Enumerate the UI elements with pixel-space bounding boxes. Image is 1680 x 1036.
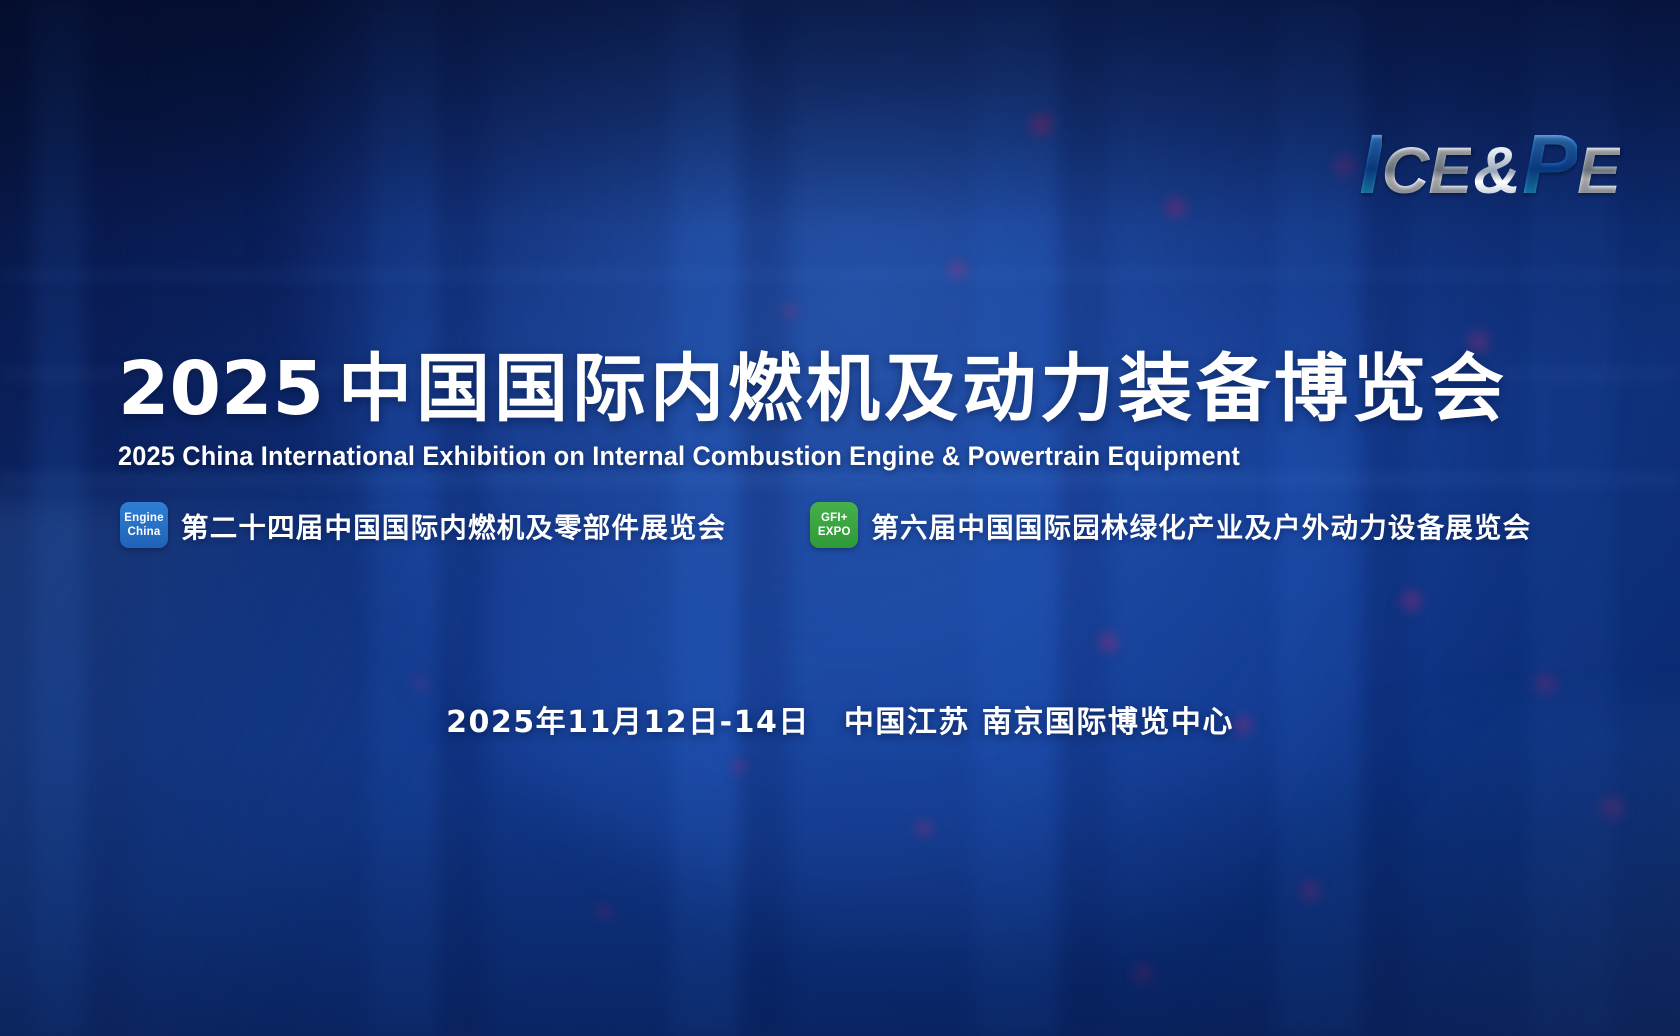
sub-event-label: 第六届中国国际园林绿化产业及户外动力设备展览会 [871, 505, 1531, 545]
title-chinese: 中国国际内燃机及动力装备博览会 [338, 346, 1508, 432]
badge-line-1: Engine [124, 511, 164, 525]
logo-letter-p: P [1522, 117, 1577, 211]
event-poster: ICE&PE 2025中国国际内燃机及动力装备博览会 2025 China In… [0, 0, 1680, 1036]
page-title: 2025中国国际内燃机及动力装备博览会 [118, 352, 1438, 427]
engine-china-badge-icon: Engine China [120, 502, 168, 548]
badge-line-1: GFI+ [821, 511, 848, 525]
poster-content: ICE&PE 2025中国国际内燃机及动力装备博览会 2025 China In… [0, 0, 1680, 1036]
event-region: 中国江苏 [844, 705, 970, 740]
sub-event-engine-china: Engine China 第二十四届中国国际内燃机及零部件展览会 [120, 502, 726, 548]
badge-line-2: EXPO [818, 525, 851, 539]
sub-event-gfi-expo: GFI+ EXPO 第六届中国国际园林绿化产业及户外动力设备展览会 [810, 502, 1531, 548]
event-date-venue-line: 2025年11月12日-14日中国江苏南京国际博览中心 [0, 697, 1680, 741]
title-year: 2025 [118, 346, 324, 432]
logo-letter-e: E [1577, 133, 1620, 207]
logo-letter-i: I [1359, 117, 1381, 211]
gfi-expo-badge-icon: GFI+ EXPO [810, 502, 858, 548]
page-subtitle-english: 2025 China International Exhibition on I… [118, 441, 1379, 472]
headline-block: 2025中国国际内燃机及动力装备博览会 2025 China Internati… [118, 352, 1438, 472]
sub-event-label: 第二十四届中国国际内燃机及零部件展览会 [181, 505, 726, 545]
sub-events-row: Engine China 第二十四届中国国际内燃机及零部件展览会 GFI+ EX… [120, 502, 1440, 548]
badge-line-2: China [128, 525, 161, 539]
logo-letters-ce: CE [1382, 133, 1472, 207]
event-date: 2025年11月12日-14日 [446, 705, 810, 740]
ice-and-pe-logo: ICE&PE [1359, 122, 1620, 206]
event-venue: 南京国际博览中心 [982, 705, 1234, 740]
logo-ampersand: & [1471, 133, 1522, 207]
